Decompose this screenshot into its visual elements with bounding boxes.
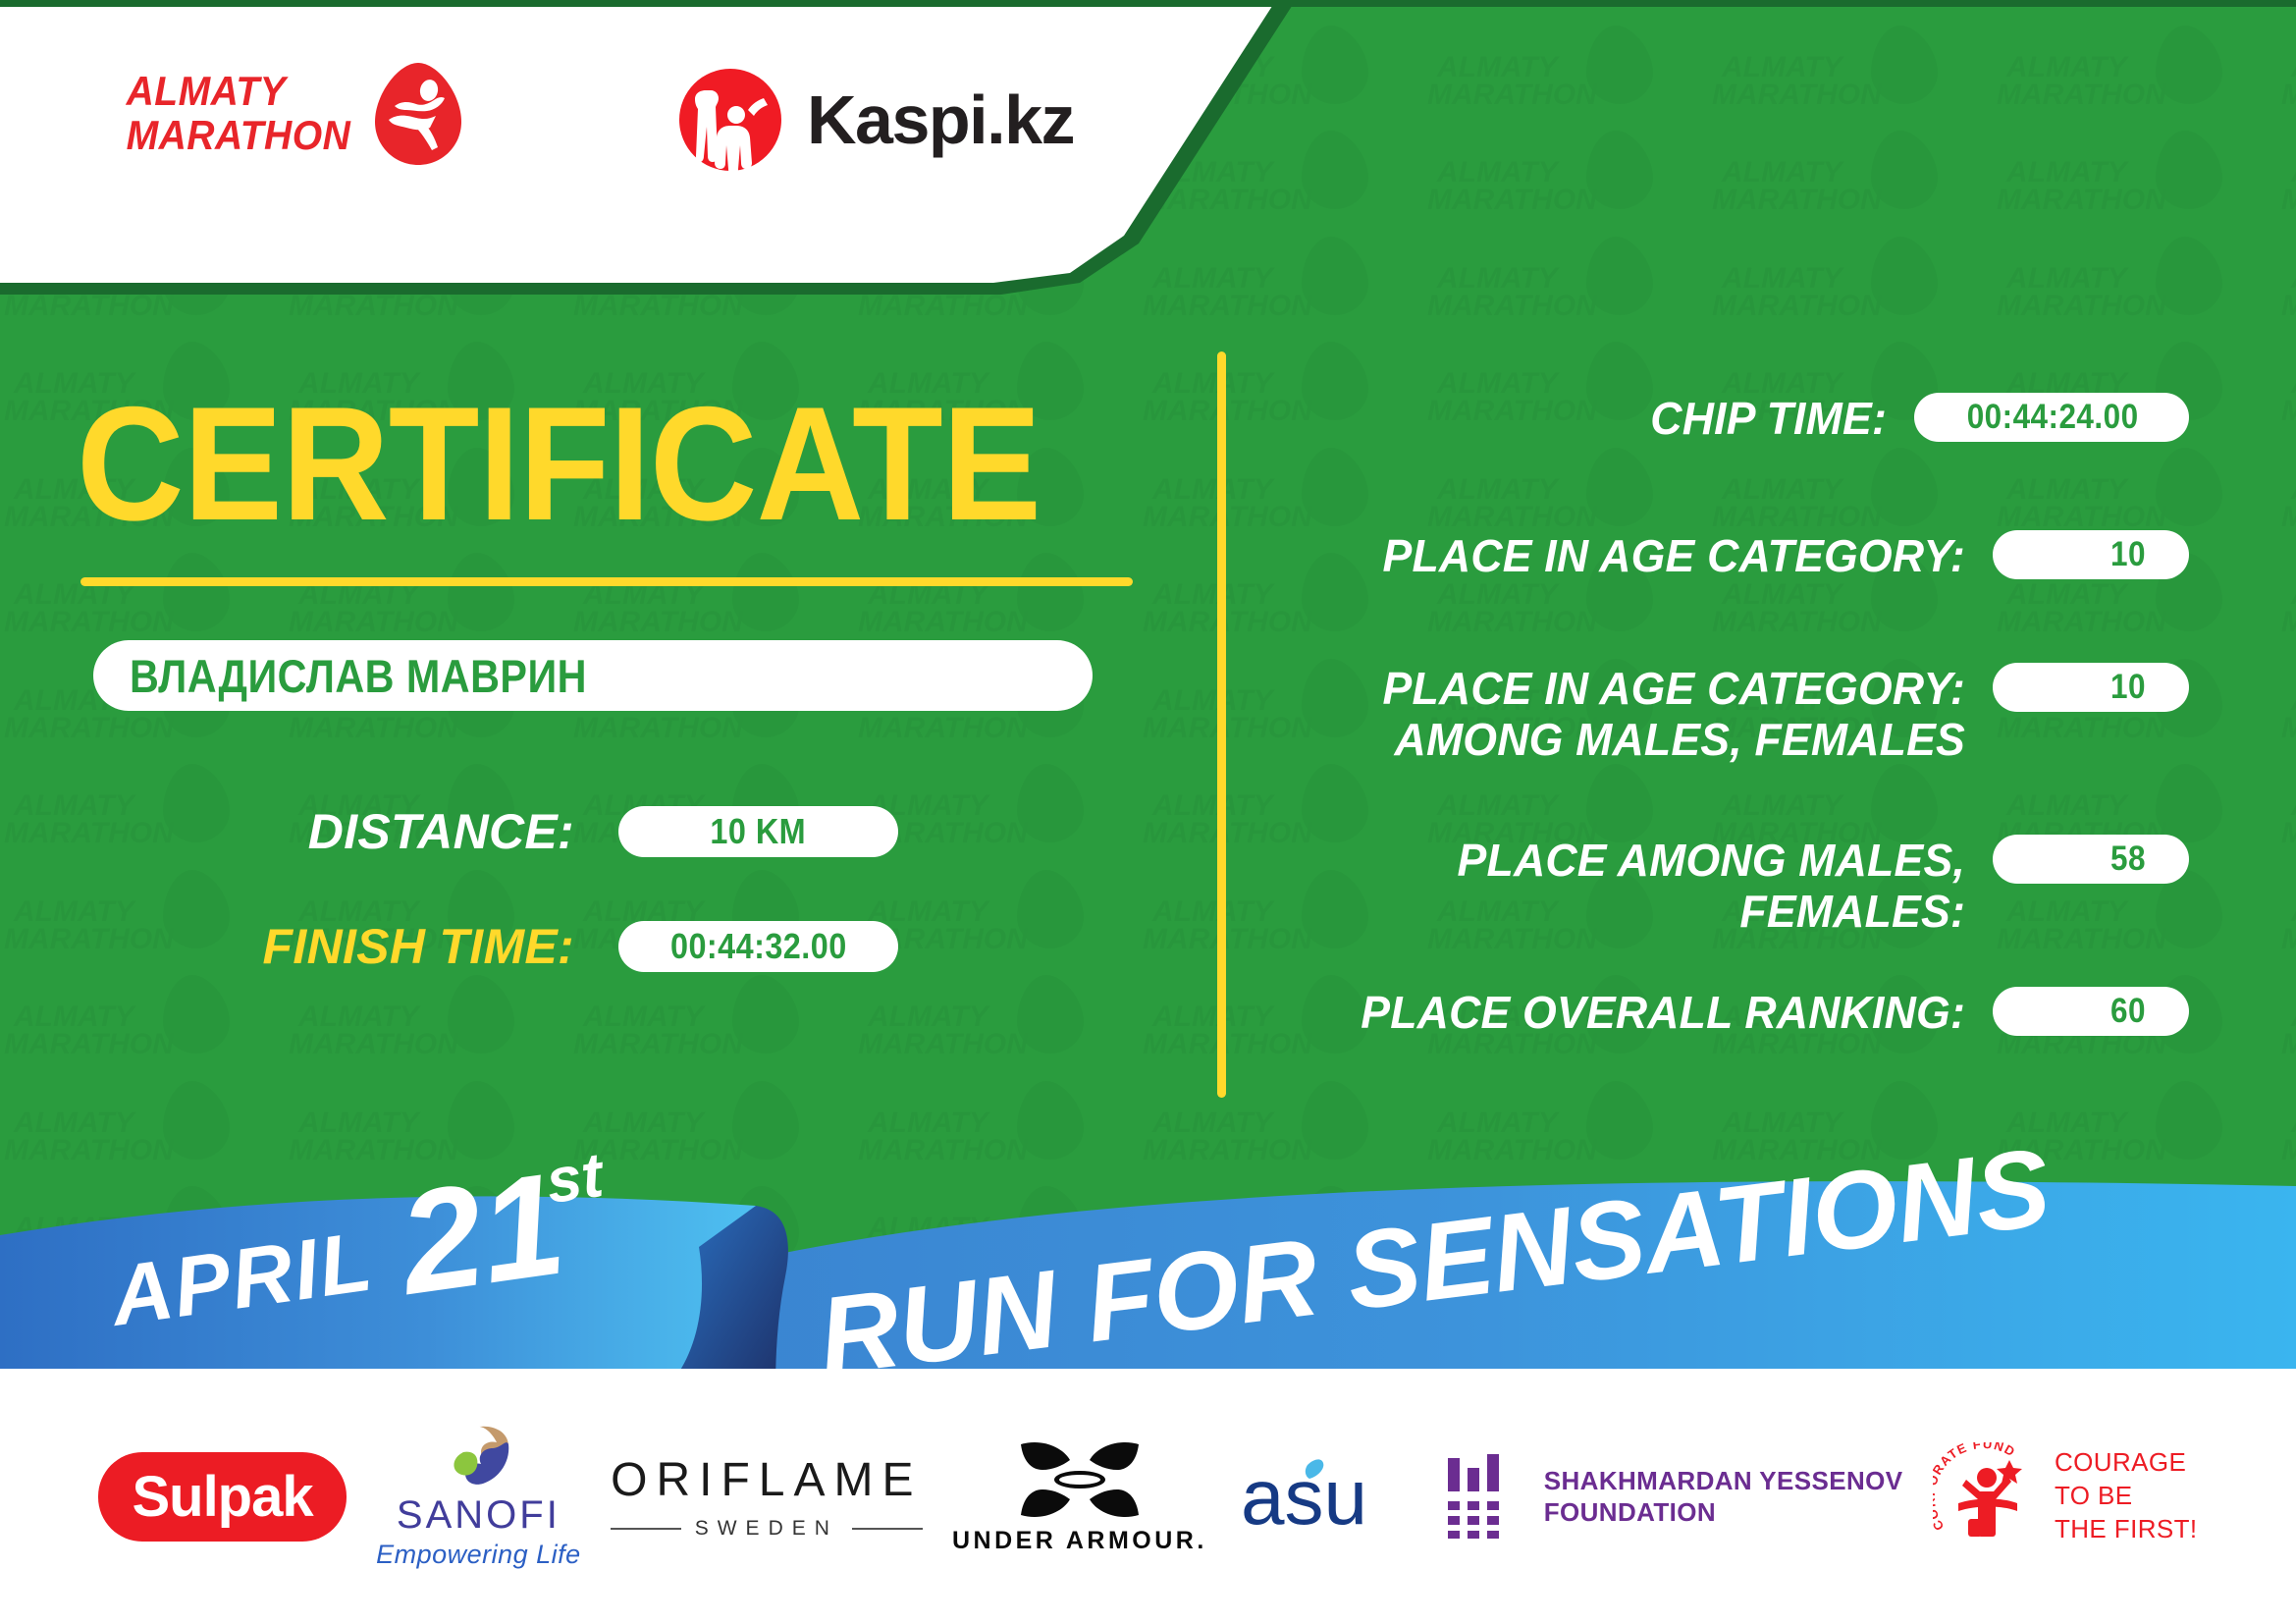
place-among-gender-value-pill: 58 (1993, 835, 2189, 884)
sanofi-icon (440, 1423, 516, 1491)
finish-time-value: 00:44:32.00 (670, 926, 847, 967)
place-overall-value: 60 (2110, 992, 2146, 1031)
almaty-marathon-wordmark: ALMATY MARATHON (127, 70, 351, 157)
oriflame-country: SWEDEN (695, 1517, 838, 1541)
vertical-divider (1217, 352, 1226, 1098)
place-overall-row: PLACE OVERALL RANKING: 60 (1276, 987, 2189, 1038)
label-line-1: PLACE AMONG MALES, (1297, 835, 1965, 886)
place-overall-value-pill: 60 (1993, 987, 2189, 1036)
page-title: CERTIFICATE (77, 383, 1041, 545)
yessenov-line-1: SHAKHMARDAN YESSENOV (1544, 1465, 1903, 1497)
sponsor-asu: asu (1237, 1451, 1414, 1542)
event-ribbon: APRIL 21 st RUN FOR SENSATIONS (0, 1080, 2296, 1394)
oriflame-sub-row: SWEDEN (611, 1517, 922, 1541)
place-age-category-gender-label: PLACE IN AGE CATEGORY: AMONG MALES, FEMA… (1297, 663, 1965, 766)
kaspi-wordmark: Kaspi.kz (807, 81, 1074, 159)
sanofi-tagline: Empowering Life (376, 1540, 581, 1570)
courage-line-2: TO BE (2055, 1480, 2198, 1513)
place-among-gender-row: PLACE AMONG MALES, FEMALES: 58 (1276, 835, 2189, 938)
courage-fund-icon: CORPORATE FUND (1933, 1442, 2041, 1550)
label-line-2: FEMALES: (1297, 886, 1965, 937)
place-age-category-value-pill: 10 (1993, 530, 2189, 579)
almaty-logo-line1: ALMATY (127, 70, 351, 114)
place-overall-label: PLACE OVERALL RANKING: (1297, 987, 1965, 1038)
chip-time-value: 00:44:24.00 (1966, 398, 2138, 437)
courage-fund-wordmark: COURAGE TO BE THE FIRST! (2055, 1446, 2198, 1545)
asu-icon: asu (1237, 1451, 1414, 1542)
distance-value: 10 KM (711, 811, 807, 852)
place-age-category-row: PLACE IN AGE CATEGORY: 10 (1276, 530, 2189, 581)
finish-time-value-pill: 00:44:32.00 (618, 921, 898, 972)
place-age-category-gender-value: 10 (2110, 668, 2146, 707)
label-line-2: AMONG MALES, FEMALES (1297, 714, 1965, 765)
courage-line-3: THE FIRST! (2055, 1513, 2198, 1546)
oriflame-rule-left (611, 1528, 681, 1530)
participant-name-value: ВЛАДИСЛАВ МАВРИН (93, 649, 587, 703)
finish-time-row: FINISH TIME: 00:44:32.00 (201, 918, 1095, 975)
oriflame-rule-right (852, 1528, 923, 1530)
finish-time-label: FINISH TIME: (201, 918, 574, 975)
participant-name-field: ВЛАДИСЛАВ МАВРИН (93, 640, 1093, 711)
yessenov-line-2: FOUNDATION (1544, 1496, 1903, 1529)
place-among-gender-value: 58 (2110, 839, 2146, 879)
chip-time-label: CHIP TIME: (1295, 393, 1887, 444)
sulpak-wordmark: Sulpak (132, 1464, 312, 1530)
top-accent-line (0, 0, 2296, 7)
sanofi-wordmark: SANOFI (397, 1493, 561, 1538)
place-age-category-value: 10 (2110, 535, 2146, 574)
sponsor-sanofi: SANOFI Empowering Life (376, 1423, 581, 1570)
sponsor-yessenov-foundation: SHAKHMARDAN YESSENOV FOUNDATION (1444, 1454, 1903, 1539)
place-age-category-label: PLACE IN AGE CATEGORY: (1297, 530, 1965, 581)
sponsor-strip: Sulpak SANOFI Empowering Life ORIFLAME S… (0, 1369, 2296, 1624)
sponsor-oriflame: ORIFLAME SWEDEN (611, 1453, 922, 1541)
certificate-canvas: ALMATY MARATHON Kaspi.kz CERTIFICATE ВЛА… (0, 0, 2296, 1624)
place-among-gender-label: PLACE AMONG MALES, FEMALES: (1297, 835, 1965, 938)
sponsor-courage-fund: CORPORATE FUND COURAGE TO BE THE FIRST! (1933, 1442, 2198, 1550)
chip-time-row: CHIP TIME: 00:44:24.00 (1276, 393, 2189, 444)
sponsor-under-armour: UNDER ARMOUR. (952, 1438, 1207, 1555)
kaspi-logo: Kaspi.kz (677, 67, 1074, 173)
label-line-1: PLACE IN AGE CATEGORY: (1297, 663, 1965, 714)
under-armour-icon (1015, 1438, 1145, 1521)
runner-drop-icon (373, 61, 463, 167)
title-underline (80, 577, 1133, 586)
chip-time-value-pill: 00:44:24.00 (1914, 393, 2189, 442)
under-armour-wordmark: UNDER ARMOUR. (952, 1527, 1207, 1555)
place-age-category-gender-row: PLACE IN AGE CATEGORY: AMONG MALES, FEMA… (1276, 663, 2189, 766)
distance-row: DISTANCE: 10 KM (201, 803, 1095, 860)
distance-label: DISTANCE: (201, 803, 574, 860)
ribbon-graphic: APRIL 21 st RUN FOR SENSATIONS (0, 1080, 2296, 1394)
sponsor-sulpak: Sulpak (98, 1452, 346, 1542)
courage-line-1: COURAGE (2055, 1446, 2198, 1480)
almaty-logo-line2: MARATHON (127, 114, 351, 158)
yessenov-wordmark: SHAKHMARDAN YESSENOV FOUNDATION (1544, 1465, 1903, 1529)
oriflame-wordmark: ORIFLAME (611, 1453, 922, 1507)
yessenov-icon (1444, 1454, 1521, 1539)
svg-text:asu: asu (1241, 1453, 1367, 1541)
distance-value-pill: 10 KM (618, 806, 898, 857)
kaspi-people-icon (677, 67, 783, 173)
place-age-category-gender-value-pill: 10 (1993, 663, 2189, 712)
svg-text:st: st (542, 1139, 610, 1218)
almaty-marathon-logo: ALMATY MARATHON (118, 61, 463, 167)
